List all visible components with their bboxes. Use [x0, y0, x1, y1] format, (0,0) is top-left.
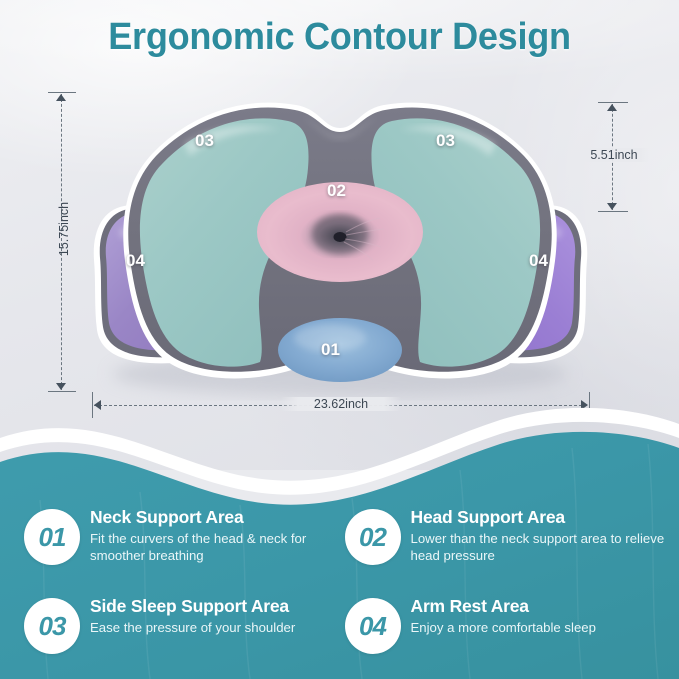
- zone-label-02: 02: [327, 181, 346, 201]
- arrow-left-icon: [94, 400, 101, 410]
- zone-label-03-left: 03: [195, 131, 214, 151]
- dimension-cap-right: [589, 392, 590, 418]
- page-title: Ergonomic Contour Design: [17, 16, 662, 59]
- legend-text-01: Neck Support Area Fit the curvers of the…: [90, 505, 345, 565]
- arrow-right-icon: [581, 400, 588, 410]
- dimension-cap-left: [92, 392, 93, 418]
- pillow-illustration: [88, 82, 593, 392]
- legend-description-02: Lower than the neck support area to reli…: [411, 530, 666, 565]
- dimension-cap-bottom: [48, 391, 76, 392]
- legend-description-03: Ease the pressure of your shoulder: [90, 619, 295, 637]
- features-legend: 01 Neck Support Area Fit the curvers of …: [0, 505, 679, 679]
- dimension-cap-top: [48, 92, 76, 93]
- dimension-cap-bottom: [598, 211, 628, 212]
- zone-label-01: 01: [321, 340, 340, 360]
- legend-item-02[interactable]: 02 Head Support Area Lower than the neck…: [345, 505, 666, 590]
- arrow-down-icon: [607, 203, 617, 210]
- legend-number-badge-01: 01: [24, 509, 80, 565]
- legend-number-badge-03: 03: [24, 598, 80, 654]
- legend-description-04: Enjoy a more comfortable sleep: [411, 619, 596, 637]
- dimension-height: 15.75inch: [46, 92, 88, 392]
- dimension-depth-label: 5.51inch: [579, 148, 649, 162]
- legend-title-02: Head Support Area: [411, 507, 666, 529]
- zone-label-04-right: 04: [529, 251, 548, 271]
- legend-text-03: Side Sleep Support Area Ease the pressur…: [90, 594, 295, 636]
- arrow-down-icon: [56, 383, 66, 390]
- legend-text-04: Arm Rest Area Enjoy a more comfortable s…: [411, 594, 596, 636]
- legend-item-01[interactable]: 01 Neck Support Area Fit the curvers of …: [24, 505, 345, 590]
- dimension-cap-top: [598, 102, 628, 103]
- dimension-width: 23.62inch: [92, 392, 590, 422]
- legend-title-01: Neck Support Area: [90, 507, 345, 529]
- legend-title-03: Side Sleep Support Area: [90, 596, 295, 618]
- legend-item-03[interactable]: 03 Side Sleep Support Area Ease the pres…: [24, 594, 345, 679]
- dimension-height-label: 15.75inch: [57, 189, 71, 269]
- arrow-up-icon: [607, 104, 617, 111]
- legend-text-02: Head Support Area Lower than the neck su…: [411, 505, 666, 565]
- legend-number-badge-04: 04: [345, 598, 401, 654]
- legend-title-04: Arm Rest Area: [411, 596, 596, 618]
- zone-label-04-left: 04: [126, 251, 145, 271]
- dimension-width-label: 23.62inch: [281, 397, 401, 411]
- arrow-up-icon: [56, 94, 66, 101]
- product-illustration-section: Ergonomic Contour Design: [0, 0, 679, 470]
- legend-item-04[interactable]: 04 Arm Rest Area Enjoy a more comfortabl…: [345, 594, 666, 679]
- dimension-depth: 5.51inch: [588, 102, 638, 212]
- legend-description-01: Fit the curvers of the head & neck for s…: [90, 530, 345, 565]
- legend-number-badge-02: 02: [345, 509, 401, 565]
- zone-label-03-right: 03: [436, 131, 455, 151]
